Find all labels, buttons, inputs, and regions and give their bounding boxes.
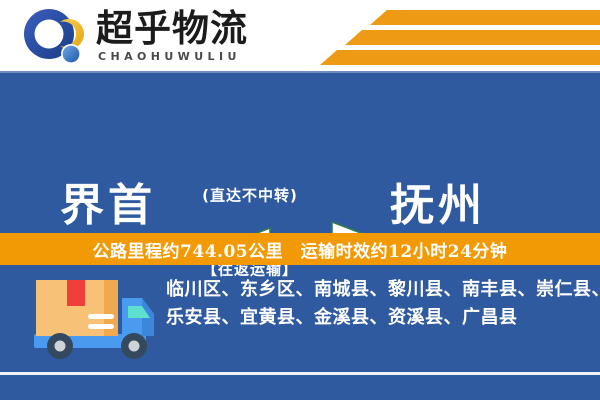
district-line-2: 乐安县、宜黄县、金溪县、资溪县、广昌县: [166, 304, 586, 332]
circle-crescent-logo-icon: [22, 8, 84, 66]
distance-and-duration-text: 公路里程约744.05公里 运输时效约12小时24分钟: [93, 237, 508, 262]
orange-speed-stripes-icon: [295, 6, 600, 68]
route-section: 界首 (直达不中转) 【往返运输】 抚州: [0, 73, 600, 231]
destination-city: 抚州: [390, 169, 486, 233]
route-info-bar: 公路里程约744.05公里 运输时效约12小时24分钟: [0, 233, 600, 265]
coverage-district-list: 临川区、东乡区、南城县、黎川县、南丰县、崇仁县、 乐安县、宜黄县、金溪县、资溪县…: [166, 276, 586, 332]
stripe-1: [370, 10, 600, 25]
logistics-route-banner: 超乎物流 CHAOHUWULIU 界首 (直达不中转) 【往返运输】 抚州 公路…: [0, 0, 600, 400]
brand-name-chinese: 超乎物流: [96, 8, 248, 50]
brand-name-pinyin: CHAOHUWULIU: [98, 50, 241, 63]
banner-header: 超乎物流 CHAOHUWULIU: [0, 0, 600, 73]
stripe-2: [345, 30, 600, 45]
stripe-3: [320, 50, 600, 65]
bottom-divider: [0, 372, 600, 375]
delivery-truck-icon: [30, 272, 158, 366]
route-note-direct: (直达不中转): [202, 185, 298, 206]
origin-city: 界首: [60, 169, 156, 233]
district-line-1: 临川区、东乡区、南城县、黎川县、南丰县、崇仁县、: [166, 276, 586, 304]
